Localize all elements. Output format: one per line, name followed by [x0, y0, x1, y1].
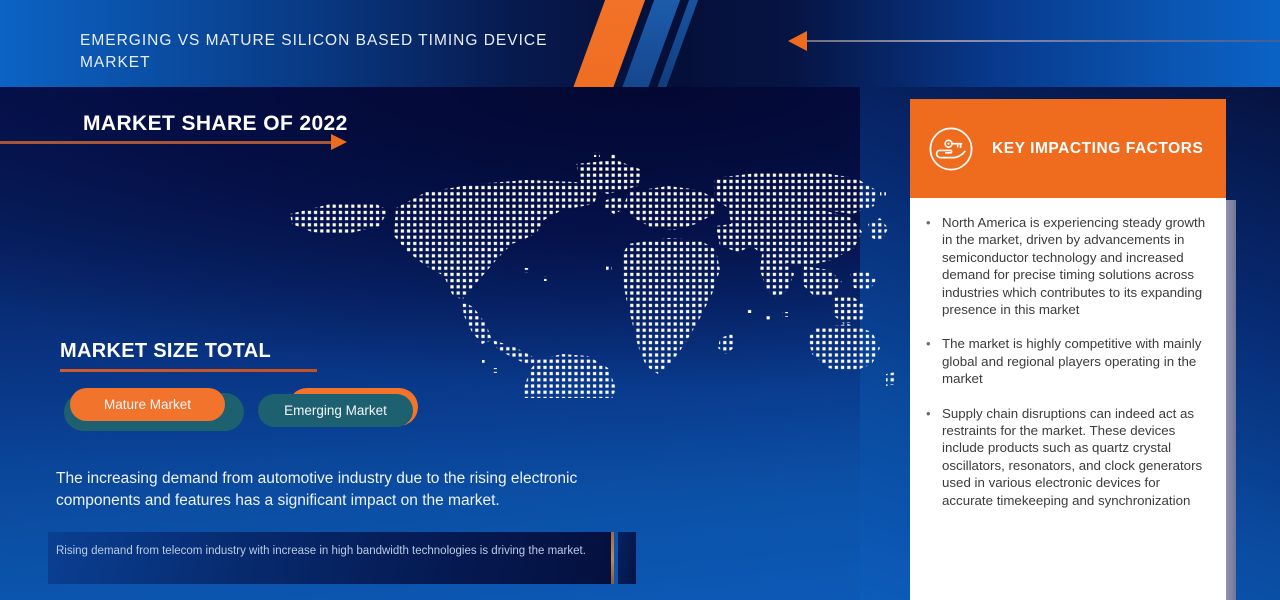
key-impacting-factors-title: KEY IMPACTING FACTORS — [992, 140, 1203, 158]
list-item: • North America is experiencing steady g… — [926, 214, 1212, 318]
list-item: • The market is highly competitive with … — [926, 335, 1212, 387]
key-impacting-factors-panel: • North America is experiencing steady g… — [910, 198, 1226, 600]
market-size-title: MARKET SIZE TOTAL — [60, 340, 271, 363]
legend-pill-emerging-label[interactable]: Emerging Market — [258, 394, 413, 427]
page-title: EMERGING VS MATURE SILICON BASED TIMING … — [80, 30, 600, 75]
list-item: • Supply chain disruptions can indeed ac… — [926, 405, 1212, 509]
bullet-icon: • — [926, 335, 942, 387]
list-item-text: The market is highly competitive with ma… — [942, 335, 1212, 387]
market-size-rule — [60, 369, 317, 372]
bullet-icon: • — [926, 214, 942, 318]
legend-pill-mature-label[interactable]: Mature Market — [70, 388, 225, 421]
key-impacting-factors-list: • North America is experiencing steady g… — [926, 214, 1212, 509]
caption-divider — [611, 532, 614, 584]
market-share-rule — [0, 141, 333, 144]
bullet-icon: • — [926, 405, 942, 509]
page-header: EMERGING VS MATURE SILICON BASED TIMING … — [0, 0, 1280, 87]
infographic-stage: EMERGING VS MATURE SILICON BASED TIMING … — [0, 0, 1280, 600]
hand-holding-key-icon — [928, 126, 974, 172]
lead-paragraph: The increasing demand from automotive in… — [56, 468, 636, 512]
left-arrow-icon — [788, 31, 807, 51]
legend-pill-emerging[interactable]: Emerging Market — [258, 388, 458, 436]
dotted-world-map — [276, 148, 896, 398]
market-share-title: MARKET SHARE OF 2022 — [83, 112, 348, 136]
panel-shadow — [1226, 200, 1236, 600]
caption-band-secondary — [618, 532, 636, 584]
caption-paragraph: Rising demand from telecom industry with… — [56, 543, 596, 560]
header-arrow-line — [806, 40, 1280, 42]
list-item-text: Supply chain disruptions can indeed act … — [942, 405, 1212, 509]
list-item-text: North America is experiencing steady gro… — [942, 214, 1212, 318]
legend-pill-mature[interactable]: Mature Market — [64, 388, 264, 434]
key-impacting-factors-header: KEY IMPACTING FACTORS — [910, 99, 1226, 198]
